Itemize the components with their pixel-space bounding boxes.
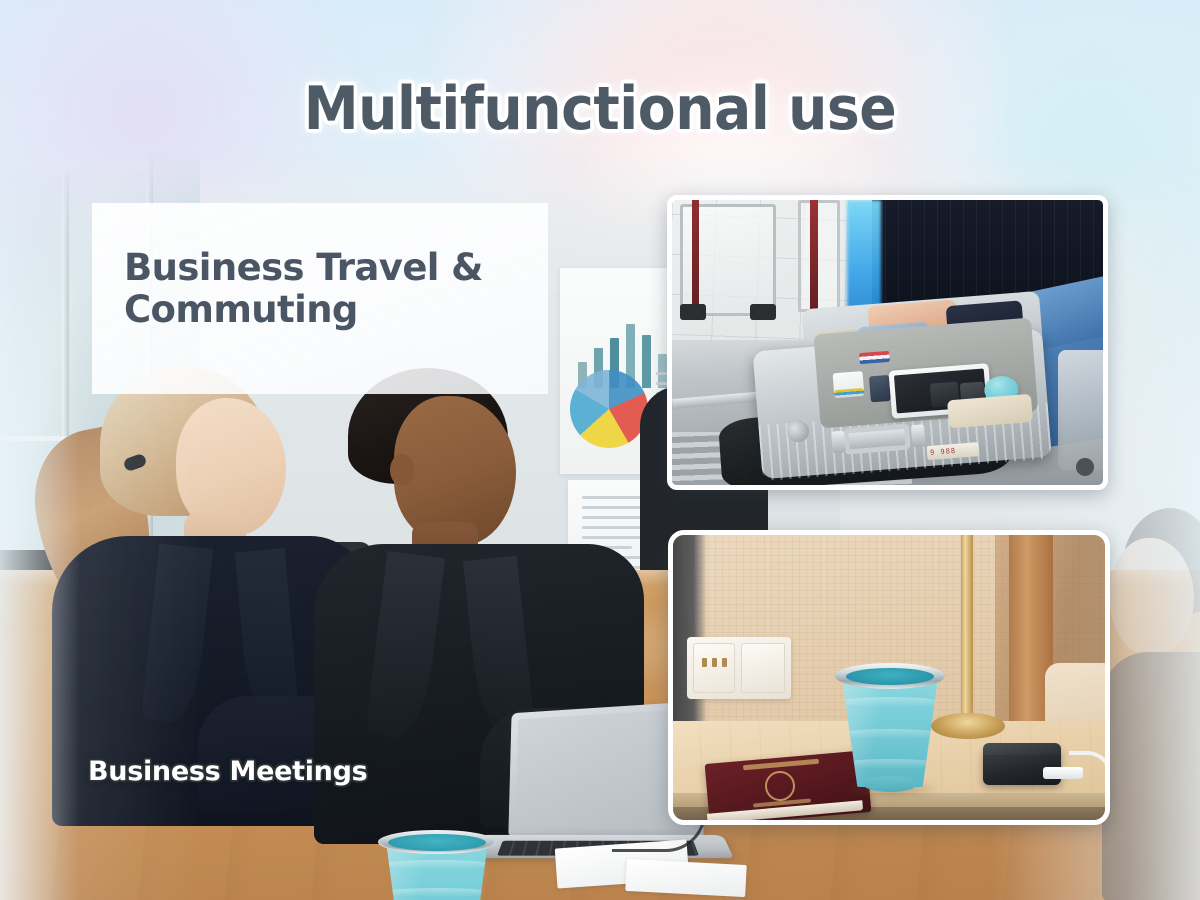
teal-collapsible-cup-main [376, 822, 498, 900]
feature-panel-label: Business Travel & Commuting [124, 247, 524, 331]
infographic-canvas: Multifunctional use Business Travel & Co… [0, 0, 1200, 900]
brass-lamp-pole [961, 535, 973, 731]
suitcase-latch-left [831, 431, 846, 454]
suit-jacket [1102, 652, 1200, 900]
face [1110, 538, 1194, 656]
page-title: Multifunctional use [48, 74, 1152, 144]
cup-ridge-1 [382, 860, 492, 869]
person-colleague-right [1096, 508, 1200, 900]
wall-socket [693, 643, 735, 693]
inset-card-airport-security[interactable]: 9 988 Airport Security [667, 195, 1108, 490]
teal-collapsible-cup-hotel [835, 655, 945, 787]
paper-document-2 [625, 859, 747, 897]
cup-ridge-1 [839, 697, 941, 707]
light-switch [741, 643, 785, 693]
suitcase-latch-right [911, 424, 926, 447]
open-suitcase: 9 988 [750, 297, 1052, 481]
flag-sticker [859, 351, 890, 364]
cup-interior [846, 668, 934, 685]
power-bank-top [983, 743, 1061, 755]
caption-business-meetings: Business Meetings [88, 756, 367, 787]
xray-machine-foot-left [680, 304, 706, 320]
ear [390, 454, 414, 486]
hotel-stays-photo [673, 535, 1105, 820]
background-suitcase [1058, 350, 1103, 470]
inset-card-hotel-stays[interactable]: Hotel Stays [668, 530, 1110, 825]
usb-connector [1043, 767, 1083, 779]
ceiling-light [18, 152, 146, 174]
cup-interior [388, 834, 486, 851]
xray-machine-post [692, 200, 699, 318]
background-suitcase-wheel [1076, 458, 1094, 476]
airport-security-photo: 9 988 [672, 200, 1103, 485]
cup-base [863, 776, 917, 792]
travel-card-navy [869, 375, 891, 402]
suitcase-handle [843, 423, 911, 454]
feature-panel-line-1: Business Travel & [124, 246, 483, 289]
feature-panel-business-travel: Business Travel & Commuting [92, 203, 548, 394]
cup-ridge-3 [839, 759, 941, 769]
cup-ridge-2 [382, 888, 492, 897]
xray-machine-post-secondary [810, 200, 818, 310]
feature-panel-line-2: Commuting [124, 288, 358, 331]
cup-ridge-2 [839, 729, 941, 739]
xray-machine-frame-secondary [798, 200, 840, 312]
